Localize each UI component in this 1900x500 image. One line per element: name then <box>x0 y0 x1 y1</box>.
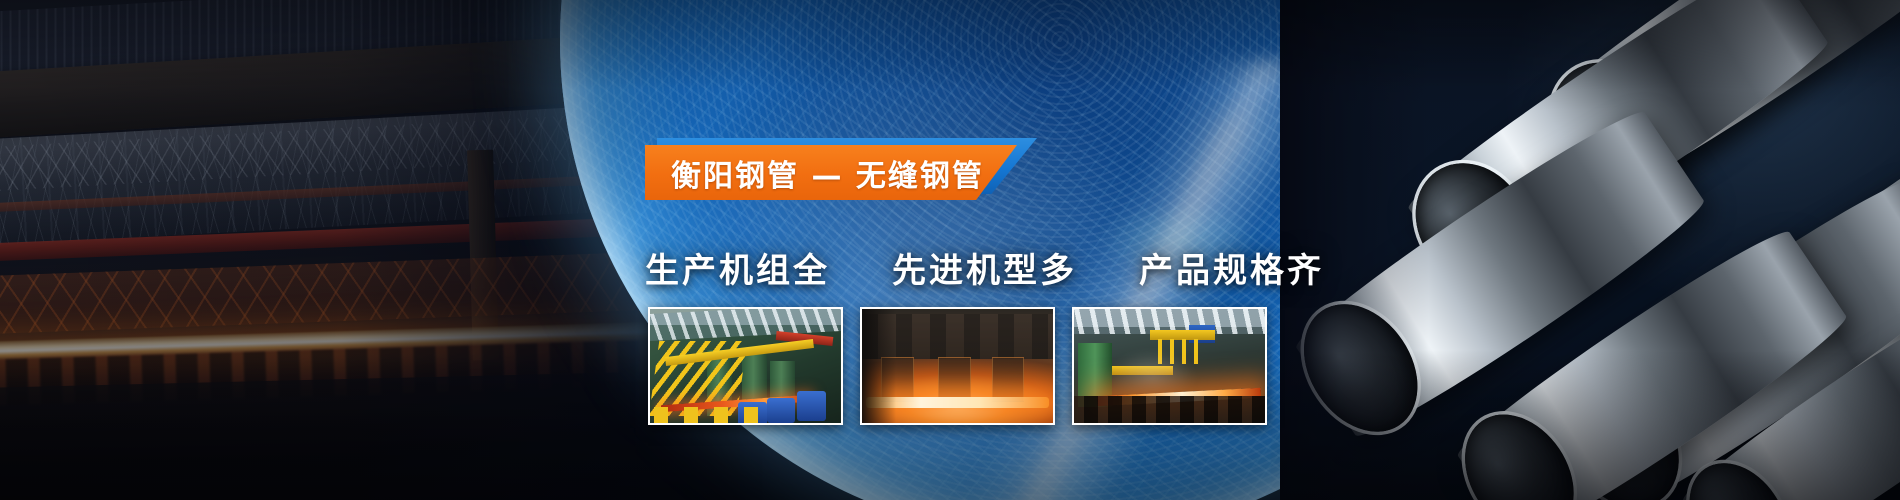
promo-banner: 衡阳钢管 — 无缝钢管 生产机组全 先进机型多 产品规格齐 <box>0 0 1900 500</box>
billet-shadow-left <box>862 309 896 423</box>
badge-orange-plate: 衡阳钢管 — 无缝钢管 <box>645 145 1017 200</box>
badge-label: 衡阳钢管 — 无缝钢管 <box>645 151 984 195</box>
thumbnail-image <box>862 309 1053 423</box>
thumbnail-hot-steel-billet[interactable] <box>860 307 1055 425</box>
brand-badge[interactable]: 衡阳钢管 — 无缝钢管 <box>645 138 1075 200</box>
thumbnail-factory-hall-hot-bar[interactable] <box>1072 307 1267 425</box>
slogan-1: 生产机组全 <box>645 243 830 292</box>
mill-blue-motor <box>767 398 796 423</box>
slogan-2: 先进机型多 <box>892 243 1077 292</box>
thumbnail-strip <box>648 307 1267 425</box>
banner-content: 衡阳钢管 — 无缝钢管 生产机组全 先进机型多 产品规格齐 <box>0 0 1900 500</box>
hall-foreground-rollers <box>1074 396 1265 423</box>
billet-guide <box>992 357 1024 403</box>
slogan-3: 产品规格齐 <box>1139 243 1324 292</box>
headline-slogans: 生产机组全 先进机型多 产品规格齐 <box>645 243 1324 292</box>
thumbnail-rolling-mill-machinery[interactable] <box>648 307 843 425</box>
billet-guide <box>938 357 970 403</box>
hall-steam <box>1108 350 1196 396</box>
mill-yellow-supports <box>654 407 769 423</box>
thumbnail-image <box>650 309 841 423</box>
mill-blue-motor <box>797 391 826 421</box>
thumbnail-image <box>1074 309 1265 423</box>
